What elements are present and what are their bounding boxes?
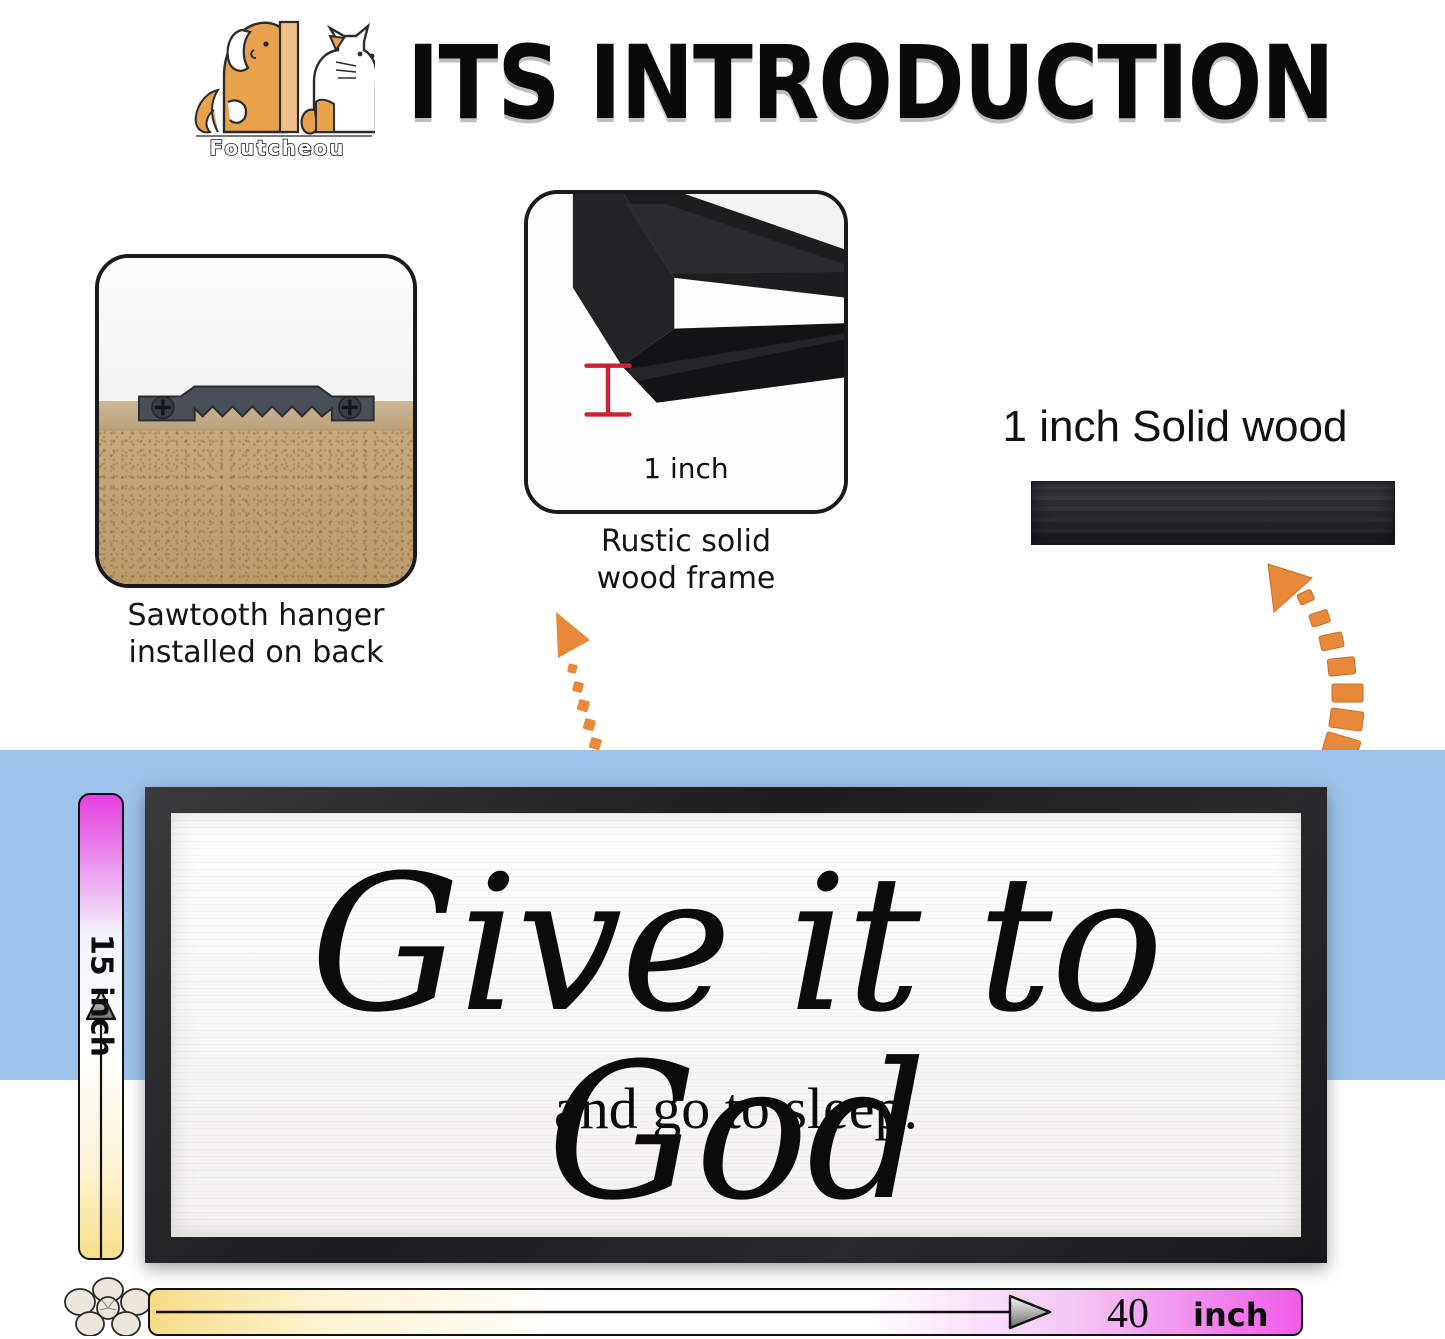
sawtooth-hanger-caption: Sawtooth hanger installed on back [95, 598, 417, 671]
rustic-frame-caption: Rustic solid wood frame [524, 524, 848, 597]
vertical-size-ruler: 15 inch [78, 793, 124, 1260]
caption-line-2: wood frame [524, 561, 848, 598]
dog-and-cat-logo-icon [180, 6, 375, 141]
frame-corner-photo: 1 inch [524, 190, 848, 514]
caption-line-2: installed on back [95, 635, 417, 672]
horizontal-size-ruler: 40 inch [148, 1288, 1303, 1336]
page-title: ITS INTRODUCTION [400, 28, 1340, 140]
caption-line-1: Sawtooth hanger [95, 598, 417, 635]
mdf-board-surface [99, 431, 413, 584]
sawtooth-hanger-icon [137, 380, 376, 429]
horizontal-ruler-unit: inch [1193, 1296, 1313, 1334]
page-title-text: ITS INTRODUCTION [407, 33, 1334, 134]
arrow-right-icon [154, 1294, 1054, 1330]
flower-icon [56, 1276, 160, 1336]
product-sign-frame: Give it to God and go to sleep. [145, 787, 1327, 1263]
caption-line-1: Rustic solid [524, 524, 848, 561]
horizontal-ruler-value: 40 [1068, 1290, 1188, 1338]
product-sign-board: Give it to God and go to sleep. [171, 813, 1301, 1237]
sign-text-primary: Give it to God [171, 851, 1301, 1227]
solid-wood-title: 1 inch Solid wood [955, 402, 1395, 452]
hanger-photo-inner [99, 258, 413, 584]
vertical-ruler-label: 15 inch [84, 921, 119, 1071]
wood-plank-swatch [1031, 481, 1395, 545]
sawtooth-hanger-photo [95, 254, 417, 588]
sign-text-secondary: and go to sleep. [171, 1075, 1301, 1142]
brand-name: Foutcheou [180, 136, 375, 160]
brand-logo: Foutcheou [180, 6, 375, 176]
frame-measure-label: 1 inch [528, 452, 844, 485]
